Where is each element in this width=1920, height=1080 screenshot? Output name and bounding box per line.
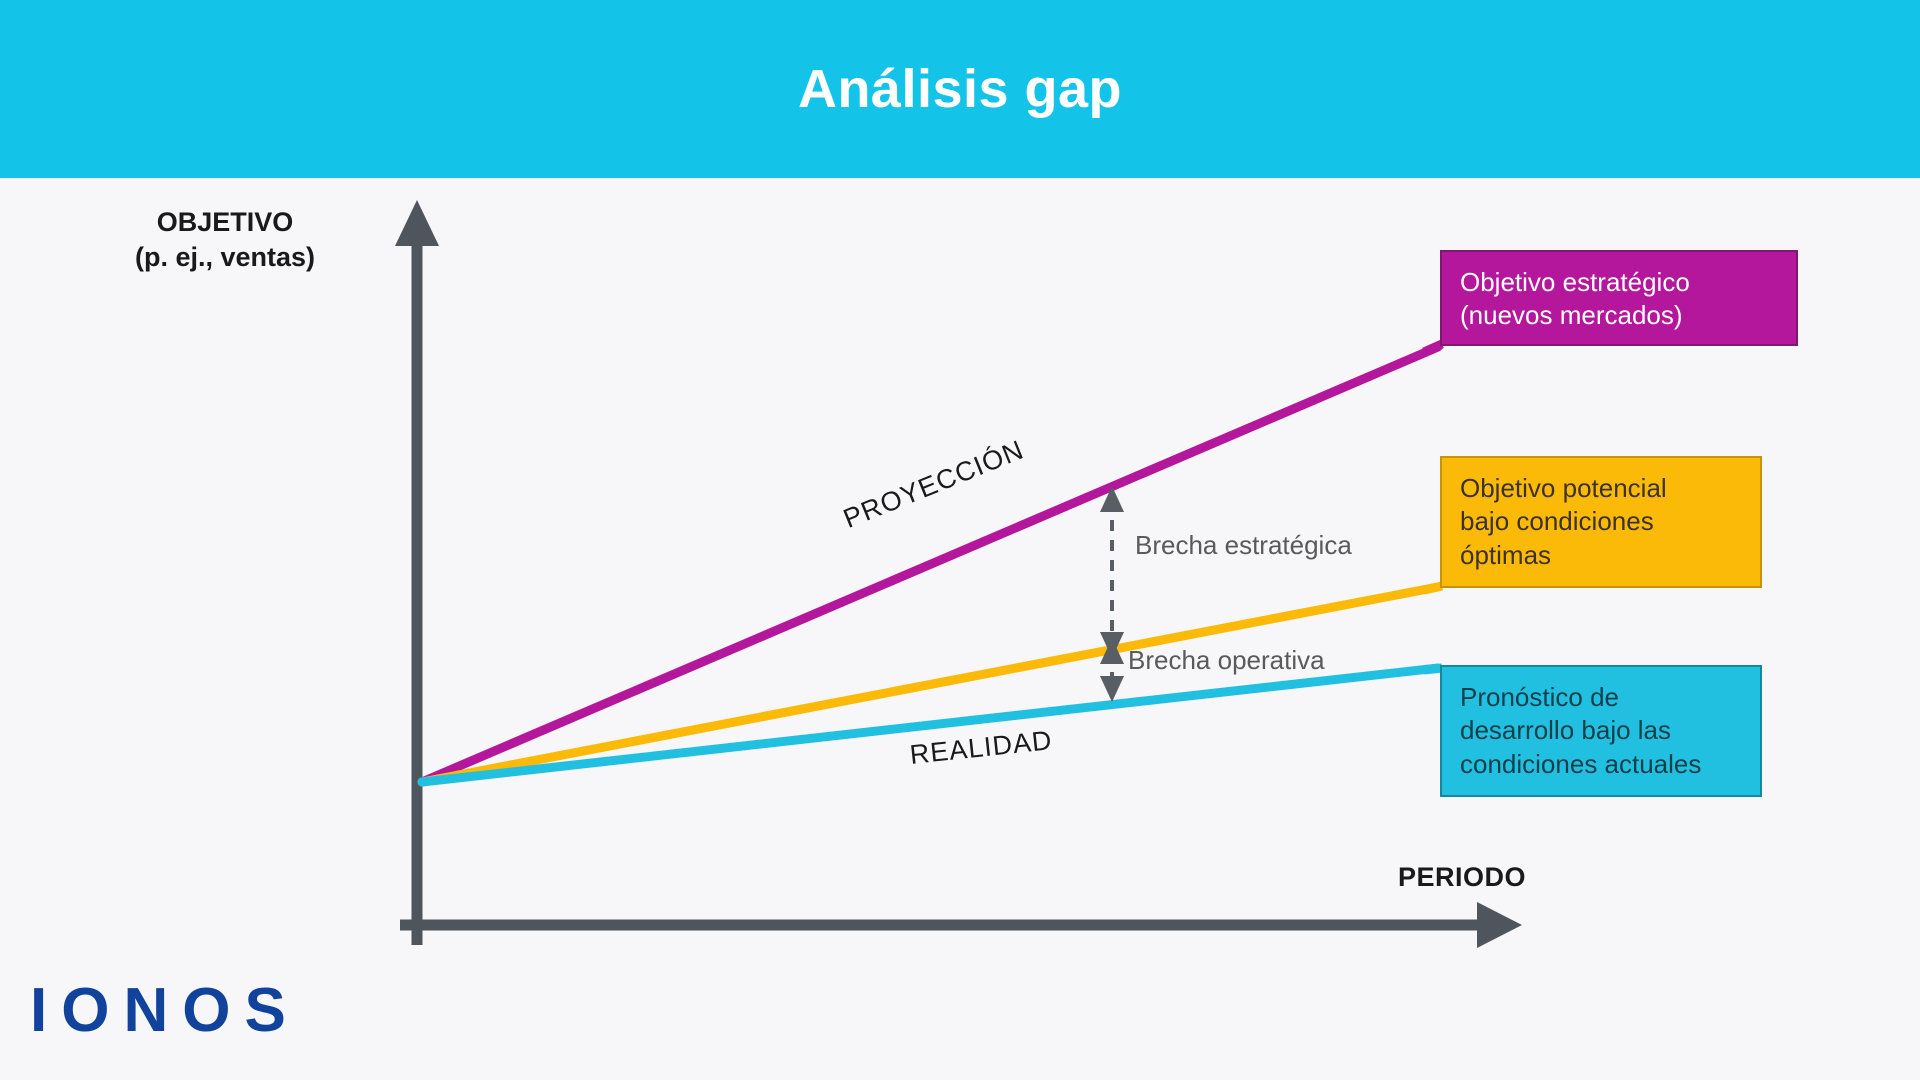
operational-gap-label: Brecha operativa [1128, 645, 1325, 676]
x-axis [400, 902, 1522, 948]
infographic-canvas: Análisis gap [0, 0, 1920, 1080]
callout-potential-objective: Objetivo potencial bajo condiciones ópti… [1440, 456, 1762, 588]
strategic-gap-arrow [1100, 486, 1124, 658]
y-axis-title-line2: (p. ej., ventas) [80, 240, 370, 275]
callout-forecast-line1: Pronóstico de [1460, 681, 1744, 714]
callout-potential-line2: bajo condiciones [1460, 505, 1744, 538]
y-axis-title: OBJETIVO (p. ej., ventas) [80, 205, 370, 274]
series-line-strategic [422, 347, 1438, 782]
callout-strategic-line1: Objetivo estratégico [1460, 266, 1780, 299]
callout-forecast-line2: desarrollo bajo las [1460, 714, 1744, 747]
x-axis-title: PERIODO [1398, 862, 1526, 893]
callout-potential-line3: óptimas [1460, 539, 1744, 572]
strategic-gap-label: Brecha estratégica [1135, 530, 1352, 561]
y-axis-title-line1: OBJETIVO [80, 205, 370, 240]
callout-potential-line1: Objetivo potencial [1460, 472, 1744, 505]
callout-forecast-line3: condiciones actuales [1460, 748, 1744, 781]
callout-forecast: Pronóstico de desarrollo bajo las condic… [1440, 665, 1762, 797]
callout-strategic-objective: Objetivo estratégico (nuevos mercados) [1440, 250, 1798, 346]
y-axis [395, 200, 439, 945]
ionos-logo: IONOS [30, 975, 300, 1046]
callout-strategic-line2: (nuevos mercados) [1460, 299, 1780, 332]
